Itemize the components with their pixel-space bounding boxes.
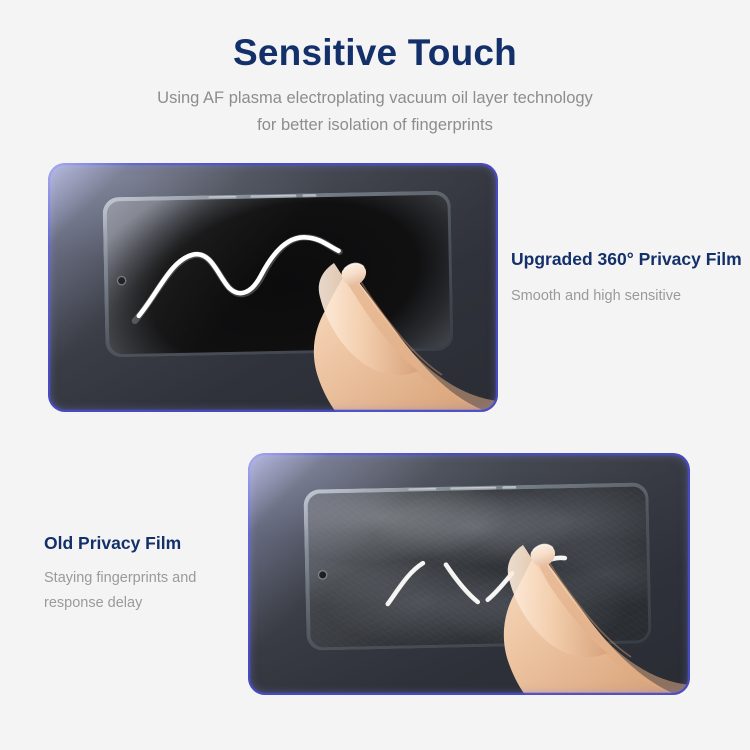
callout-old: Old Privacy Film Staying fingerprints an… <box>44 533 196 617</box>
header: Sensitive Touch Using AF plasma electrop… <box>0 0 750 139</box>
hand-index-finger-bottom <box>248 453 690 695</box>
old-film-panel <box>248 453 690 695</box>
subtitle-line-1: Using AF plasma electroplating vacuum oi… <box>0 73 750 112</box>
callout-upgraded-title: Upgraded 360° Privacy Film <box>511 249 742 270</box>
product-feature-slide: Sensitive Touch Using AF plasma electrop… <box>0 0 750 750</box>
page-title: Sensitive Touch <box>0 0 750 73</box>
upgraded-film-panel <box>48 163 498 412</box>
callout-old-title: Old Privacy Film <box>44 533 196 554</box>
subtitle-line-2: for better isolation of fingerprints <box>0 111 750 139</box>
hand-index-finger-top <box>48 163 498 412</box>
callout-old-description-line-2: response delay <box>44 591 196 616</box>
callout-upgraded: Upgraded 360° Privacy Film Smooth and hi… <box>511 249 742 309</box>
callout-upgraded-description: Smooth and high sensitive <box>511 284 742 309</box>
callout-old-description-line-1: Staying fingerprints and <box>44 566 196 591</box>
